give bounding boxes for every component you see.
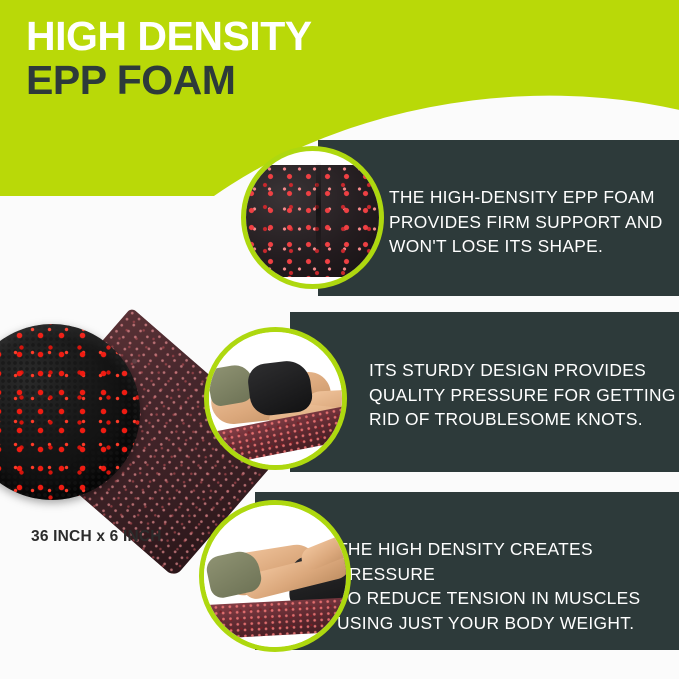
feature-text-3: THE HIGH DENSITY CREATES PRESSURE TO RED… bbox=[337, 537, 679, 635]
scene-2 bbox=[209, 332, 342, 465]
roller-under-back bbox=[199, 596, 351, 639]
foam-seam-shadow bbox=[316, 161, 321, 257]
title-line-1: HIGH DENSITY bbox=[26, 16, 312, 56]
black-shorts-shape bbox=[246, 358, 314, 417]
hero-foam-roller-image bbox=[0, 272, 208, 500]
feature-text-1: THE HIGH-DENSITY EPP FOAM PROVIDES FIRM … bbox=[389, 185, 663, 259]
foam-texture bbox=[241, 165, 384, 277]
scene-3 bbox=[204, 505, 346, 647]
feature-text-2: ITS STURDY DESIGN PROVIDES QUALITY PRESS… bbox=[369, 358, 676, 432]
feature-image-2-leg-rolling bbox=[204, 327, 347, 470]
dimension-label: 36 INCH x 6 INCH bbox=[31, 528, 162, 546]
title-line-2: EPP FOAM bbox=[26, 60, 312, 100]
product-infographic: HIGH DENSITY EPP FOAM 36 INCH x 6 INCH bbox=[0, 0, 679, 679]
feature-image-3-back-stretch bbox=[199, 500, 351, 652]
roller-end-face bbox=[0, 324, 140, 500]
page-title: HIGH DENSITY EPP FOAM bbox=[26, 16, 312, 100]
feature-image-1-foam-closeup bbox=[241, 146, 384, 289]
